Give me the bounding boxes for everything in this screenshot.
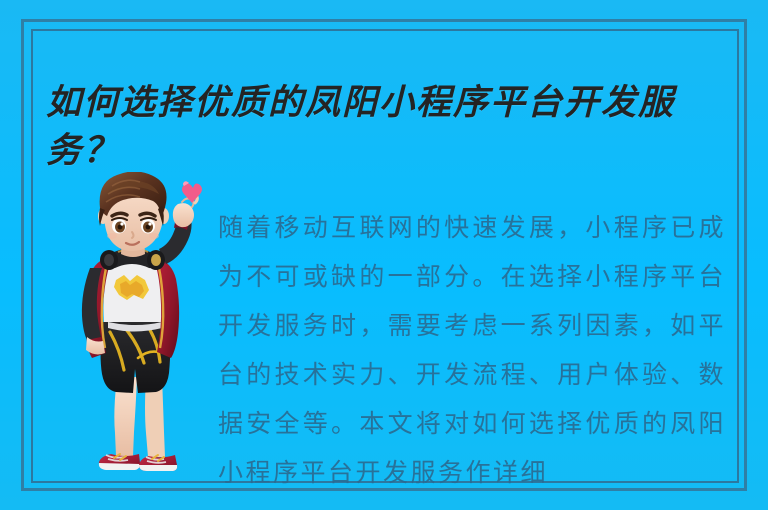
cartoon-boy-illustration (62, 172, 204, 472)
page-title: 如何选择优质的凤阳小程序平台开发服务？ (46, 79, 722, 175)
article-banner: 如何选择优质的凤阳小程序平台开发服务？ (0, 0, 768, 510)
article-body-text: 随着移动互联网的快速发展，小程序已成为不可或缺的一部分。在选择小程序平台开发服务… (218, 203, 726, 497)
